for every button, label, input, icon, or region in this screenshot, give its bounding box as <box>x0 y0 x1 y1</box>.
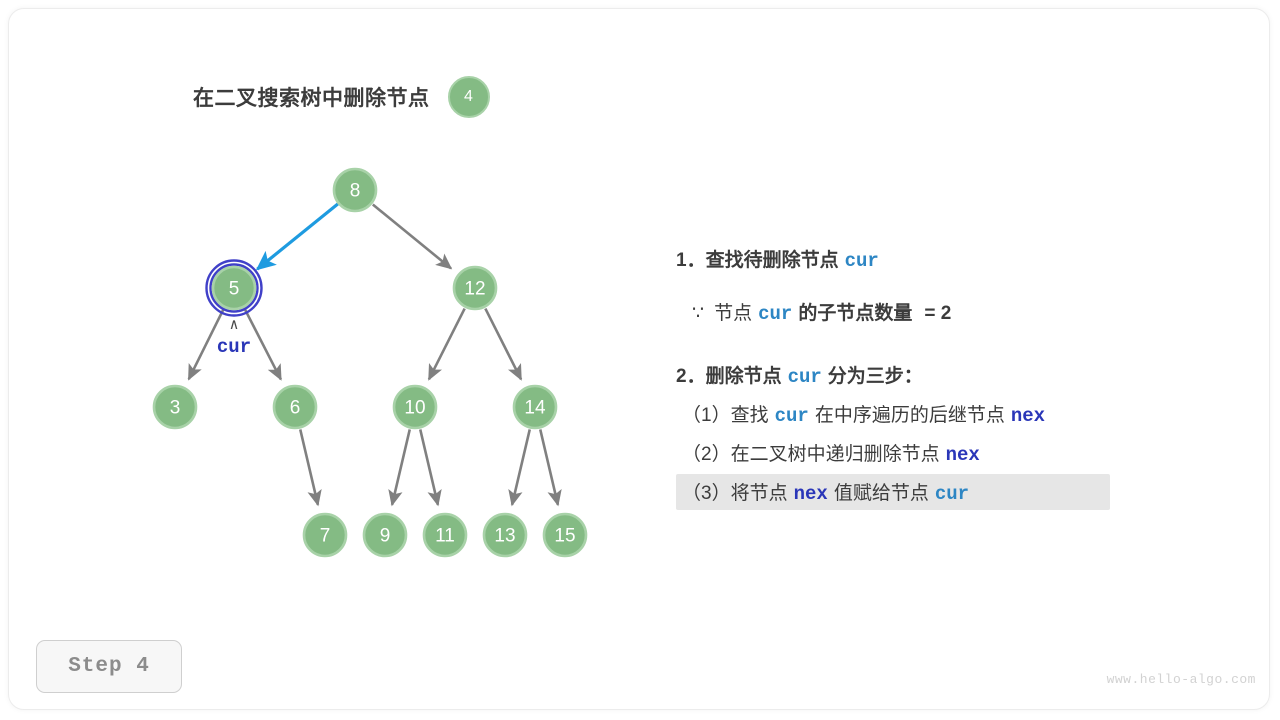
tree-node: 11 <box>424 514 466 556</box>
tree-node: 6 <box>274 386 316 428</box>
tree-node: 9 <box>364 514 406 556</box>
step2-suffix: 分为三步： <box>828 361 923 388</box>
substep-index: （1） <box>682 400 731 427</box>
node-value-label: 15 <box>554 526 575 547</box>
node-value-label: 3 <box>170 398 181 419</box>
reason-prefix: 节点 <box>704 298 752 325</box>
substep-index: （3） <box>682 478 731 505</box>
site-watermark: www.hello-algo.com <box>1107 672 1256 687</box>
substep-var-cur-1: cur <box>769 405 815 427</box>
step2-var-cur: cur <box>782 366 828 388</box>
tree-edge <box>392 429 410 504</box>
pointer-label-cur: cur <box>217 336 251 358</box>
tree-node: 14 <box>514 386 556 428</box>
step2-prefix: 2．删除节点 <box>676 361 782 388</box>
node-value-label: 12 <box>464 279 485 300</box>
substep-text-2: 值赋给节点 <box>834 478 929 505</box>
substep-var-nex-2: nex <box>1005 405 1051 427</box>
node-value-label: 8 <box>350 181 361 202</box>
tree-edge <box>300 429 318 504</box>
tree-node: 5 <box>207 261 262 316</box>
tree-node: 10 <box>394 386 436 428</box>
tree-node: 7 <box>304 514 346 556</box>
pointer-caret-icon: ∧ <box>229 317 238 334</box>
node-value-label: 10 <box>404 398 425 419</box>
reason-equals: = 2 <box>912 303 951 325</box>
node-value-label: 14 <box>524 398 546 419</box>
substep-text-1: 在二叉树中递归删除节点 <box>731 439 940 466</box>
tree-node: 12 <box>454 267 496 309</box>
substep-text-1: 查找 <box>731 400 769 427</box>
tree-node-layer: 851236101479111315 <box>154 169 586 556</box>
screenshot-root: 在二叉搜索树中删除节点 4 851236101479111315 ∧cur 1．… <box>0 0 1280 720</box>
substep-var-cur-2: cur <box>929 483 975 505</box>
explanation-panel: 1．查找待删除节点 cur ∵ 节点 cur 的子节点数量 = 2 2．删除节点… <box>676 245 1236 513</box>
substep-var-nex-1: nex <box>940 444 986 466</box>
binary-search-tree-diagram: 851236101479111315 ∧cur <box>0 0 660 620</box>
tree-edge <box>257 201 341 269</box>
tree-node: 3 <box>154 386 196 428</box>
substep-line: （3）将节点nex值赋给节点cur <box>676 474 1110 510</box>
reason-middle: 的子节点数量 <box>798 298 912 325</box>
tree-edge <box>540 429 558 504</box>
tree-node: 15 <box>544 514 586 556</box>
node-value-label: 5 <box>229 279 240 300</box>
step1-prefix: 1．查找待删除节点 <box>676 245 839 272</box>
step1-var-cur: cur <box>839 250 885 272</box>
tree-edge <box>373 205 451 269</box>
substep-text-1: 将节点 <box>731 478 788 505</box>
node-value-label: 13 <box>494 526 515 547</box>
step-indicator-badge: Step 4 <box>36 640 182 693</box>
step1-line: 1．查找待删除节点 cur <box>676 245 1236 272</box>
tree-edge <box>420 429 438 504</box>
cur-pointer-annotation: ∧cur <box>217 317 251 358</box>
step2-line: 2．删除节点 cur 分为三步： <box>676 361 1236 388</box>
substep-text-2: 在中序遍历的后继节点 <box>815 400 1005 427</box>
node-value-label: 6 <box>290 398 301 419</box>
substep-index: （2） <box>682 439 731 466</box>
tree-node: 13 <box>484 514 526 556</box>
reason-symbol: ∵ <box>692 302 704 325</box>
node-value-label: 9 <box>380 526 391 547</box>
reason-line: ∵ 节点 cur 的子节点数量 = 2 <box>692 298 1236 325</box>
substep-var-nex-1: nex <box>788 483 834 505</box>
substep-line: （1）查找cur在中序遍历的后继节点nex <box>676 396 1236 432</box>
tree-edge <box>429 309 465 380</box>
substep-line: （2）在二叉树中递归删除节点nex <box>676 435 1236 471</box>
substep-list: （1）查找cur在中序遍历的后继节点nex（2）在二叉树中递归删除节点nex（3… <box>676 396 1236 510</box>
tree-edge <box>485 309 521 380</box>
tree-edge <box>512 429 530 504</box>
tree-node: 8 <box>334 169 376 211</box>
node-value-label: 11 <box>435 526 455 547</box>
node-value-label: 7 <box>320 526 331 547</box>
reason-var-cur: cur <box>752 303 798 325</box>
